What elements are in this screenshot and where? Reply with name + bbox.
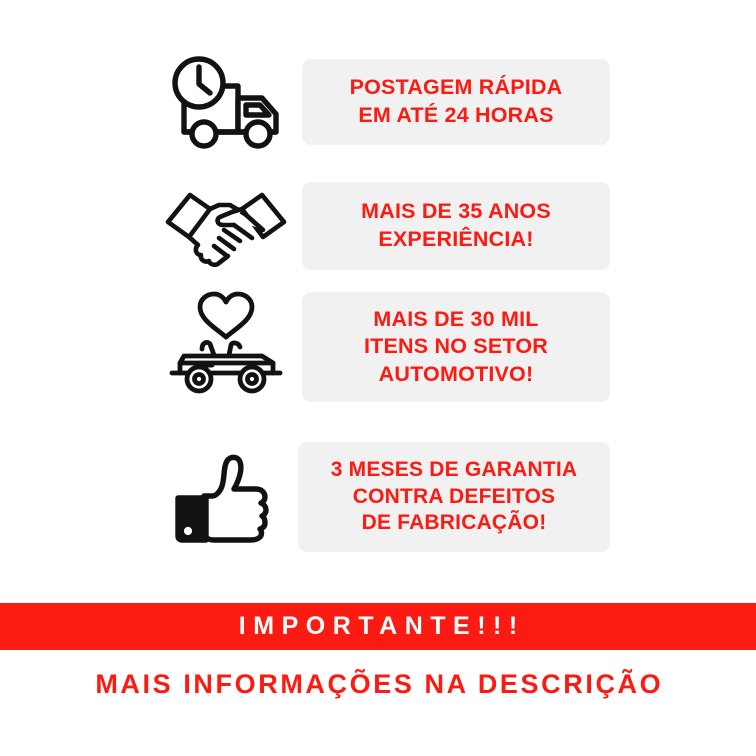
benefit-line: DE FABRICAÇÃO!	[362, 510, 547, 537]
benefit-card-experience: MAIS DE 35 ANOS EXPERIÊNCIA!	[302, 182, 610, 270]
benefit-item-fast-shipping: POSTAGEM RÁPIDA EM ATÉ 24 HORAS	[150, 42, 610, 162]
footer-section: IMPORTANTE!!! MAIS INFORMAÇÕES NA DESCRI…	[0, 596, 756, 756]
important-banner: IMPORTANTE!!!	[0, 603, 756, 650]
benefits-list: POSTAGEM RÁPIDA EM ATÉ 24 HORAS	[0, 0, 756, 596]
benefit-item-catalog-size: MAIS DE 30 MIL ITENS NO SETOR AUTOMOTIVO…	[150, 284, 610, 410]
benefit-card-catalog-size: MAIS DE 30 MIL ITENS NO SETOR AUTOMOTIVO…	[302, 292, 610, 402]
benefit-line: POSTAGEM RÁPIDA	[350, 74, 563, 102]
thumbs-up-icon	[150, 444, 302, 550]
benefit-item-warranty: 3 MESES DE GARANTIA CONTRA DEFEITOS DE F…	[150, 432, 610, 562]
benefit-line: AUTOMOTIVO!	[379, 361, 534, 389]
handshake-icon	[150, 178, 302, 274]
benefit-card-warranty: 3 MESES DE GARANTIA CONTRA DEFEITOS DE F…	[298, 442, 610, 552]
benefit-card-fast-shipping: POSTAGEM RÁPIDA EM ATÉ 24 HORAS	[302, 59, 610, 145]
benefit-line: EM ATÉ 24 HORAS	[358, 102, 553, 130]
important-banner-text: IMPORTANTE!!!	[231, 612, 524, 641]
car-heart-icon	[150, 291, 302, 403]
benefit-item-experience: MAIS DE 35 ANOS EXPERIÊNCIA!	[150, 168, 610, 284]
promo-banner-page: POSTAGEM RÁPIDA EM ATÉ 24 HORAS	[0, 0, 756, 756]
more-info-text: MAIS INFORMAÇÕES NA DESCRIÇÃO	[93, 669, 664, 700]
benefit-line: MAIS DE 30 MIL	[373, 306, 538, 334]
benefit-line: 3 MESES DE GARANTIA	[331, 457, 578, 484]
benefit-line: ITENS NO SETOR	[364, 333, 548, 361]
benefit-line: CONTRA DEFEITOS	[353, 484, 556, 511]
more-info-row: MAIS INFORMAÇÕES NA DESCRIÇÃO	[0, 658, 756, 710]
delivery-truck-clock-icon	[150, 50, 302, 154]
benefit-line: MAIS DE 35 ANOS	[361, 198, 551, 226]
benefit-line: EXPERIÊNCIA!	[378, 226, 533, 254]
